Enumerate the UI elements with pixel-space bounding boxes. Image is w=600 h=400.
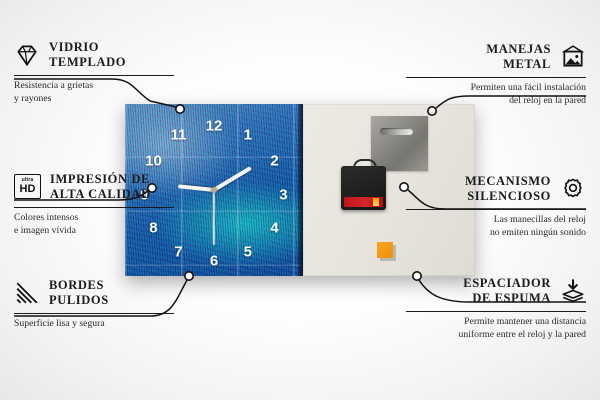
clock-second-hand xyxy=(213,190,215,245)
polished-edges-icon xyxy=(14,280,40,306)
callout-description: Permiten una fácil instalación del reloj… xyxy=(406,82,586,107)
callout-rule xyxy=(14,313,174,314)
callout-description: Colores intensos e imagen vívida xyxy=(14,212,174,237)
callout-description: Permite mantener una distancia uniforme … xyxy=(406,316,586,341)
foam-spacer-pad xyxy=(377,242,393,258)
clock-numeral: 3 xyxy=(279,188,287,203)
foam-spacer-icon xyxy=(560,278,586,304)
clock-numeral: 6 xyxy=(210,253,218,268)
mechanism-hanger-loop xyxy=(353,159,377,170)
ultra-hd-icon: ultra HD xyxy=(14,174,41,199)
callout-description: Superficie lisa y segura xyxy=(14,318,174,331)
clock-minute-hand xyxy=(213,166,252,192)
callout-tempered-glass: VIDRIO TEMPLADO Resistencia a grietas y … xyxy=(14,40,174,105)
clock-numeral: 5 xyxy=(244,244,252,259)
clock-numeral: 11 xyxy=(170,127,186,142)
clock-numeral: 2 xyxy=(270,153,278,168)
infographic-canvas: 12 1 2 3 4 5 6 7 8 9 10 11 xyxy=(0,0,600,400)
callout-silent-mechanism: MECANISMO SILENCIOSO Las manecillas del … xyxy=(406,174,586,239)
callout-title: IMPRESIÓN DE ALTA CALIDAD xyxy=(50,172,151,202)
clock-numeral: 1 xyxy=(244,127,252,142)
callout-title: BORDES PULIDOS xyxy=(49,278,109,308)
gear-icon xyxy=(560,176,586,202)
clock-hour-hand xyxy=(178,184,214,192)
hanger-slot xyxy=(380,128,413,135)
callout-description: Resistencia a grietas y rayones xyxy=(14,80,174,105)
callout-rule xyxy=(406,311,586,312)
mechanism-battery-label xyxy=(344,197,383,207)
clock-numeral: 10 xyxy=(145,153,162,168)
callout-rule xyxy=(14,75,174,76)
callout-title: ESPACIADOR DE ESPUMA xyxy=(463,276,551,306)
callout-rule xyxy=(406,77,586,78)
callout-rule xyxy=(406,209,586,210)
clock-mechanism xyxy=(341,166,386,210)
callout-polished-edges: BORDES PULIDOS Superficie lisa y segura xyxy=(14,278,174,331)
callout-title: VIDRIO TEMPLADO xyxy=(49,40,126,70)
clock-numeral: 7 xyxy=(174,244,182,259)
metal-hanger-plate-icon xyxy=(371,116,428,171)
callout-foam-spacer: ESPACIADOR DE ESPUMA Permite mantener un… xyxy=(406,276,586,341)
clock-numeral: 12 xyxy=(206,119,223,134)
callout-description: Las manecillas del reloj no emiten ningú… xyxy=(406,214,586,239)
callout-rule xyxy=(14,207,174,208)
callout-title: MANEJAS METAL xyxy=(486,42,551,72)
callout-metal-handles: MANEJAS METAL Permiten una fácil instala… xyxy=(406,42,586,107)
callout-title: MECANISMO SILENCIOSO xyxy=(465,174,551,204)
clock-numeral: 4 xyxy=(270,220,278,235)
callout-hd-print: ultra HD IMPRESIÓN DE ALTA CALIDAD Color… xyxy=(14,172,174,237)
wall-frame-icon xyxy=(560,44,586,70)
diamond-icon xyxy=(14,42,40,68)
ultra-hd-icon-main: HD xyxy=(20,184,36,195)
clock-hand-cap xyxy=(211,187,217,193)
